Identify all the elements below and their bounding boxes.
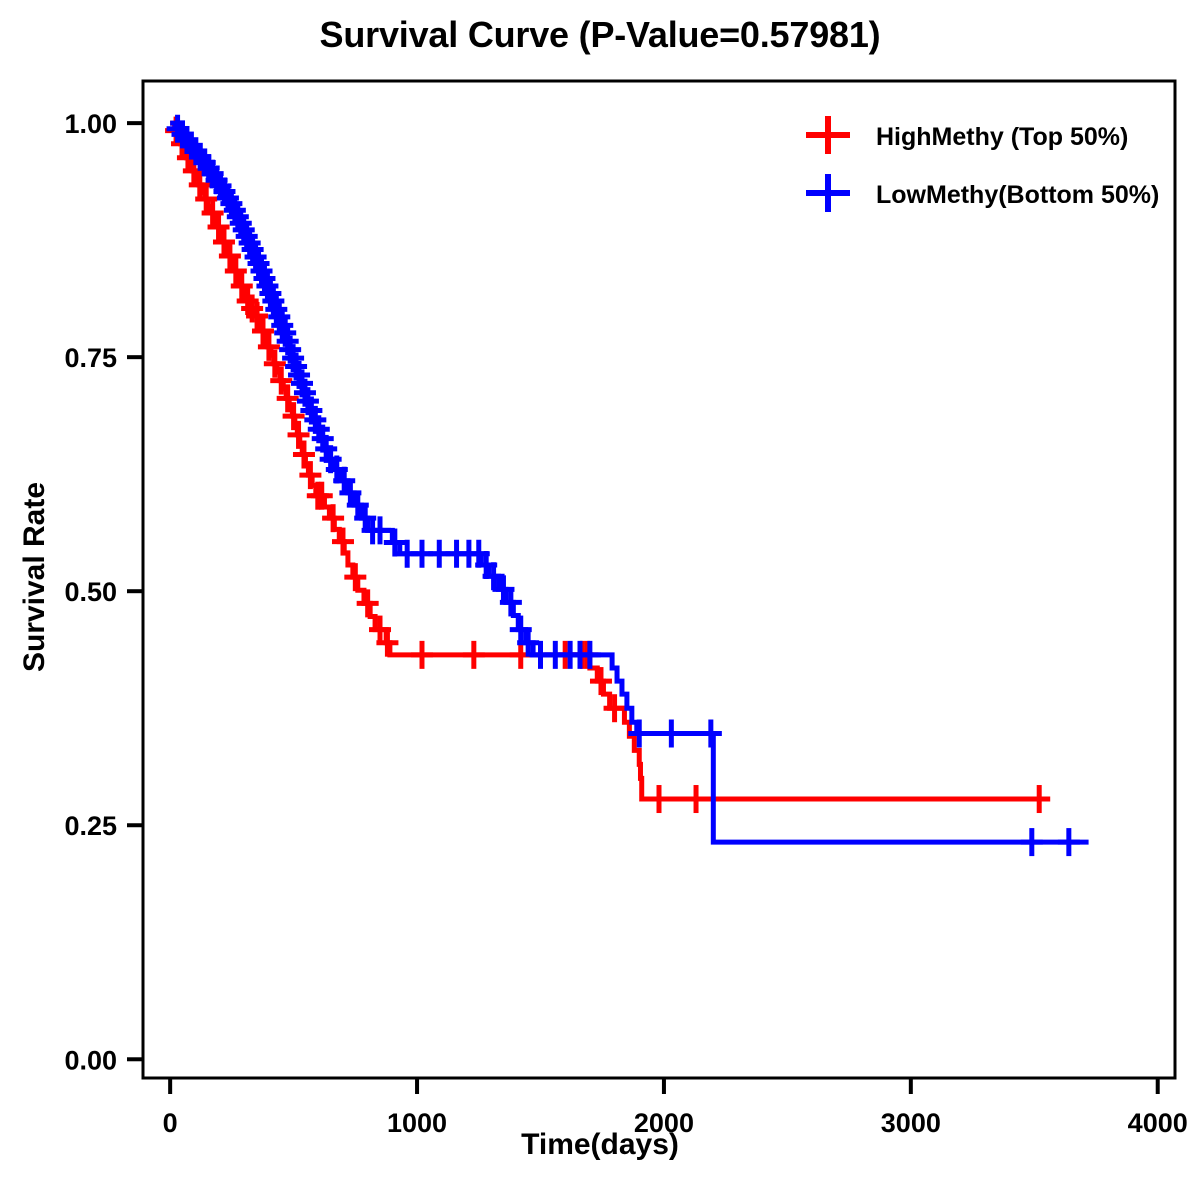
y-axis-tick-label: 0.25 <box>64 811 117 841</box>
plot-area: 010002000300040000.000.250.500.751.00 Hi… <box>0 0 1200 1200</box>
series-high-methy <box>165 117 1050 813</box>
survival-step-line <box>170 123 1044 799</box>
x-axis-tick-label: 0 <box>163 1108 178 1138</box>
x-axis-tick-label: 4000 <box>1128 1108 1188 1138</box>
legend-entry[interactable]: HighMethy (Top 50%) <box>806 116 1128 154</box>
series-low-methy <box>167 115 1089 856</box>
y-axis-tick-label: 1.00 <box>64 109 117 139</box>
x-axis-tick-label: 3000 <box>881 1108 941 1138</box>
legend-entry[interactable]: LowMethy(Bottom 50%) <box>806 174 1159 212</box>
legend-label: HighMethy (Top 50%) <box>876 123 1128 151</box>
data-series-group <box>165 115 1089 856</box>
legend-label: LowMethy(Bottom 50%) <box>876 181 1159 209</box>
y-axis-tick-label: 0.00 <box>64 1045 117 1075</box>
y-axis-tick-label: 0.50 <box>64 577 117 607</box>
plot-frame <box>143 81 1175 1078</box>
x-axis-tick-label: 2000 <box>634 1108 694 1138</box>
x-axis-tick-label: 1000 <box>387 1108 447 1138</box>
chart-legend: HighMethy (Top 50%)LowMethy(Bottom 50%) <box>806 116 1159 212</box>
y-axis-tick-label: 0.75 <box>64 343 117 373</box>
survival-curve-figure: Survival Curve (P-Value=0.57981) Surviva… <box>0 0 1200 1200</box>
